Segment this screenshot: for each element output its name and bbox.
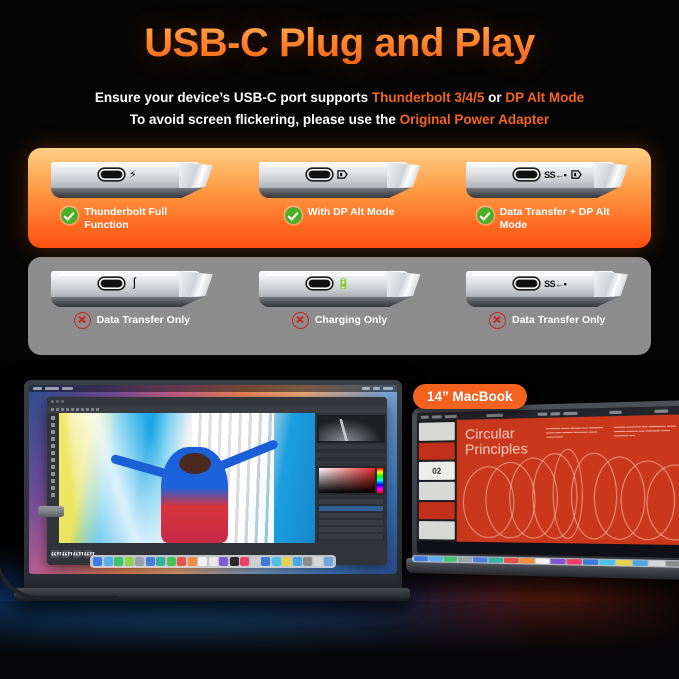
usb-c-port-icon bbox=[307, 169, 332, 180]
unsupported-item-ss-data-only: SS←• Data Transfer Only bbox=[443, 257, 651, 355]
displayport-logo-icon bbox=[571, 169, 582, 180]
usb-c-port-icon bbox=[99, 169, 124, 180]
subtitle-line-1: Ensure your device’s USB-C port supports… bbox=[0, 88, 679, 109]
thunderbolt-bolt-icon: ⚡ bbox=[129, 169, 137, 180]
laptop-edge-illustration: ⚡ bbox=[51, 162, 213, 202]
subtitle-text-1b: or bbox=[484, 90, 505, 105]
red-x-icon bbox=[292, 312, 309, 329]
unsupported-label: Data Transfer Only bbox=[512, 314, 605, 327]
histogram-panel bbox=[317, 415, 385, 443]
unsupported-panel: ⎰ Data Transfer Only 🔋 bbox=[28, 257, 651, 355]
macbook-base bbox=[406, 558, 679, 581]
slide-thumbnail-sidebar: 02 bbox=[417, 420, 457, 542]
hue-slider bbox=[377, 468, 383, 493]
red-x-icon bbox=[489, 312, 506, 329]
slide-title: Circular Principles bbox=[465, 425, 528, 456]
device-size-badge: 14” MacBook bbox=[413, 384, 527, 409]
port-marks: SS←• bbox=[514, 278, 566, 289]
green-check-icon bbox=[61, 207, 78, 224]
laptop-edge-illustration: ⎰ bbox=[51, 271, 213, 311]
macos-dock bbox=[90, 555, 336, 568]
superspeed-trident-icon: SS←• bbox=[544, 279, 566, 289]
unsupported-label: Charging Only bbox=[315, 314, 387, 327]
green-check-icon bbox=[285, 207, 302, 224]
slide-title-line2: Principles bbox=[465, 441, 528, 457]
battery-charging-icon: 🔋 bbox=[337, 278, 351, 289]
highlight-dp-alt-mode: DP Alt Mode bbox=[505, 90, 584, 105]
macbook-lid: 02 Circular Principles ▬▬▬▬▬ ▬▬▬ ▬▬ bbox=[412, 400, 679, 564]
color-picker-panel bbox=[317, 466, 385, 495]
slide-thumbnail bbox=[419, 502, 455, 520]
laptop-edge-illustration: SS←• bbox=[466, 162, 628, 202]
editor-right-panels bbox=[315, 413, 387, 543]
slide-body-column-2: ▬▬▬▬ ▬▬▬▬▬ ▬▬ ▬▬▬▬▬▬ ▬▬▬ ▬▬▬▬ ▬▬▬▬ ▬▬ ▬▬… bbox=[614, 424, 678, 439]
usb-c-port-icon bbox=[514, 169, 539, 180]
editor-toolbar bbox=[47, 406, 387, 413]
window-titlebar bbox=[47, 397, 387, 406]
highlight-power-adapter: Original Power Adapter bbox=[400, 112, 550, 127]
red-x-icon bbox=[74, 312, 91, 329]
highlight-thunderbolt: Thunderbolt 3/4/5 bbox=[372, 90, 485, 105]
promo-graphic: USB-C Plug and Play Ensure your device’s… bbox=[0, 0, 679, 679]
slide-body-column-1: ▬▬▬▬▬ ▬▬▬ ▬▬▬▬ ▬▬ ▬▬▬▬▬ ▬▬▬ ▬▬ ▬▬▬▬ ▬▬▬▬… bbox=[546, 426, 607, 440]
slide-thumbnail bbox=[419, 521, 455, 539]
unsupported-item-charging-only: 🔋 Charging Only bbox=[236, 257, 444, 355]
supported-item-thunderbolt: ⚡ Thunderbolt Full Function bbox=[28, 148, 236, 248]
slide-thumbnail bbox=[419, 482, 455, 500]
slide-thumbnail-number: 02 bbox=[419, 462, 455, 480]
subtitle-line-2: To avoid screen flickering, please use t… bbox=[0, 110, 679, 131]
supported-panel: ⚡ Thunderbolt Full Function bbox=[28, 148, 651, 248]
supported-label: Thunderbolt Full Function bbox=[84, 206, 202, 232]
supported-label: Data Transfer + DP Alt Mode bbox=[500, 206, 618, 232]
usb-c-port-icon bbox=[99, 278, 124, 289]
slide-thumbnail bbox=[419, 442, 455, 460]
green-check-icon bbox=[477, 207, 494, 224]
color-field bbox=[319, 468, 375, 493]
unsupported-label: Data Transfer Only bbox=[97, 314, 190, 327]
usb-c-plug bbox=[38, 506, 64, 517]
port-marks: SS←• bbox=[514, 169, 582, 180]
port-marks: 🔋 bbox=[307, 278, 351, 289]
slide-thumbnail bbox=[419, 422, 455, 441]
subtitle-text-2a: To avoid screen flickering, please use t… bbox=[130, 112, 400, 127]
layers-panel bbox=[317, 497, 385, 541]
macbook-screen: 02 Circular Principles ▬▬▬▬▬ ▬▬▬ ▬▬ bbox=[417, 405, 679, 558]
usb-trident-icon: ⎰ bbox=[129, 278, 140, 289]
laptop-edge-illustration: 🔋 bbox=[259, 271, 421, 311]
laptop-edge-illustration bbox=[259, 162, 421, 202]
active-slide: Circular Principles ▬▬▬▬▬ ▬▬▬ ▬▬▬▬ ▬▬ ▬▬… bbox=[457, 414, 679, 545]
unsupported-item-data-only: ⎰ Data Transfer Only bbox=[28, 257, 236, 355]
port-marks: ⚡ bbox=[99, 169, 137, 180]
supported-item-dp-alt-mode: With DP Alt Mode bbox=[236, 148, 444, 248]
port-marks bbox=[307, 169, 348, 180]
adjustments-panel bbox=[317, 445, 385, 465]
supported-item-data-plus-dp: SS←• Data Transfer + DP Alt Mode bbox=[443, 148, 651, 248]
page-title: USB-C Plug and Play bbox=[0, 22, 679, 64]
supported-label: With DP Alt Mode bbox=[308, 206, 395, 219]
displayport-logo-icon bbox=[337, 169, 348, 180]
usb-c-port-icon bbox=[307, 278, 332, 289]
presentation-body: 02 Circular Principles ▬▬▬▬▬ ▬▬▬ ▬▬ bbox=[417, 414, 679, 545]
port-marks: ⎰ bbox=[99, 278, 140, 289]
usb-c-cable bbox=[0, 510, 118, 600]
subtitle-text-1a: Ensure your device’s USB-C port supports bbox=[95, 90, 372, 105]
desk-surface bbox=[0, 601, 679, 679]
circular-diagram bbox=[459, 464, 679, 545]
superspeed-trident-icon: SS←• bbox=[544, 170, 566, 180]
product-photo-scene: 02 Circular Principles ▬▬▬▬▬ ▬▬▬ ▬▬ bbox=[0, 360, 679, 679]
laptop-edge-illustration: SS←• bbox=[466, 271, 628, 311]
usb-c-port-icon bbox=[514, 278, 539, 289]
macbook-laptop: 02 Circular Principles ▬▬▬▬▬ ▬▬▬ ▬▬ bbox=[412, 400, 679, 591]
macos-menu-bar bbox=[29, 385, 397, 392]
